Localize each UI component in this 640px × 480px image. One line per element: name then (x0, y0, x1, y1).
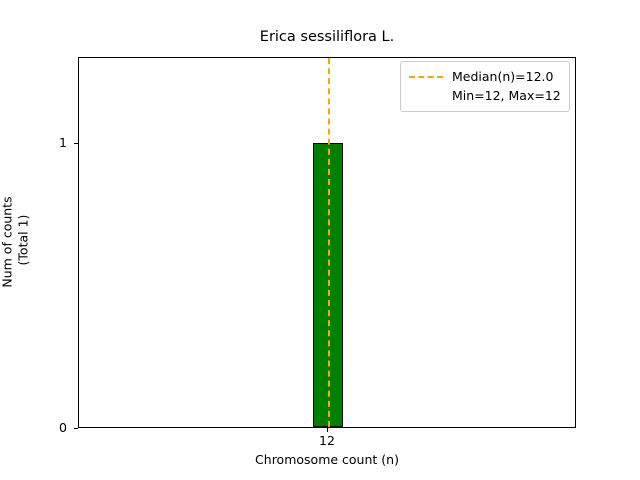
dashed-line-icon (409, 76, 443, 78)
x-tick-mark-12 (327, 428, 328, 432)
legend[interactable]: Median(n)=12.0 Min=12, Max=12 (400, 61, 570, 112)
legend-label-minmax: Min=12, Max=12 (452, 88, 561, 104)
legend-label-median: Median(n)=12.0 (452, 69, 553, 85)
median-line (328, 58, 330, 427)
figure-canvas: Erica sessiliflora L. 0 1 12 Chromosome … (0, 0, 640, 480)
y-tick-label-0: 0 (59, 421, 67, 434)
chart-title: Erica sessiliflora L. (78, 28, 576, 46)
y-axis-label: Num of counts (Total 1) (1, 57, 31, 428)
plot-area (79, 58, 575, 427)
x-tick-label-12: 12 (319, 434, 335, 448)
legend-entry-minmax: Min=12, Max=12 (409, 86, 561, 105)
y-tick-label-1: 1 (59, 136, 67, 149)
y-tick-mark-0 (74, 428, 78, 429)
plot-axes: Median(n)=12.0 Min=12, Max=12 (78, 57, 576, 428)
legend-entry-median: Median(n)=12.0 (409, 67, 561, 86)
x-axis-label: Chromosome count (n) (78, 452, 576, 467)
